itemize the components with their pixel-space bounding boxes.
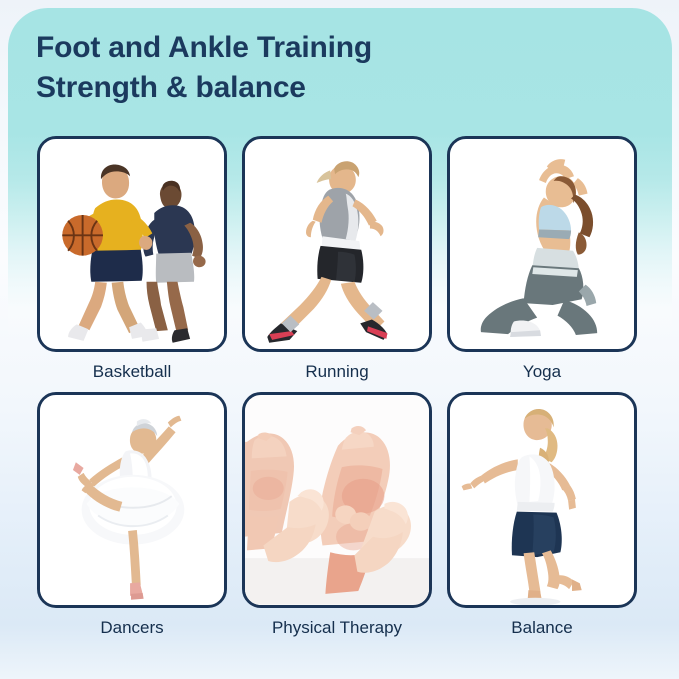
activity-card-balance[interactable]: Balance [447,392,637,638]
dancers-photo [40,395,224,605]
card-image-frame-dancers [37,392,227,608]
card-label-physical-therapy: Physical Therapy [272,618,402,638]
activity-card-dancers[interactable]: Dancers [37,392,227,638]
physical-therapy-photo [245,395,429,605]
card-image-frame-physical-therapy [242,392,432,608]
card-label-basketball: Basketball [93,362,171,382]
page-title-line-1: Foot and Ankle Training [36,28,636,68]
activity-card-yoga[interactable]: Yoga [447,136,637,382]
running-photo [245,139,429,349]
basketball-photo [40,139,224,349]
card-image-frame-balance [447,392,637,608]
card-label-dancers: Dancers [100,618,163,638]
card-label-yoga: Yoga [523,362,561,382]
activity-card-grid: Basketball [37,136,638,639]
yoga-photo [450,139,634,349]
card-label-running: Running [305,362,368,382]
card-image-frame-running [242,136,432,352]
activity-card-physical-therapy[interactable]: Physical Therapy [242,392,432,638]
card-image-frame-basketball [37,136,227,352]
card-image-frame-yoga [447,136,637,352]
card-label-balance: Balance [511,618,572,638]
page-title: Foot and Ankle Training Strength & balan… [36,28,636,107]
activity-card-basketball[interactable]: Basketball [37,136,227,382]
page-title-line-2: Strength & balance [36,68,636,108]
balance-photo [450,395,634,605]
infographic-root: Foot and Ankle Training Strength & balan… [0,0,679,679]
activity-card-running[interactable]: Running [242,136,432,382]
